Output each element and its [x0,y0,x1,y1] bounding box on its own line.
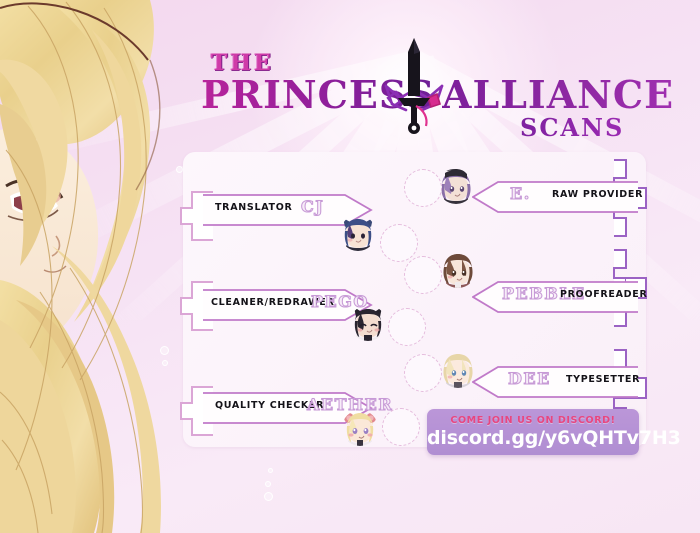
credit-name-label: CJ [301,197,324,216]
credit-role-label: TYPESETTER [566,374,640,385]
discord-invite-banner[interactable]: COME JOIN US ON DISCORD! discord.gg/y6vQ… [427,409,639,455]
bubble-decoration [265,481,271,487]
credit-row-cleaner-redrawer: CLEANER/REDRAWER PEGO [203,288,373,322]
logo-alliance-text: ALLIANCE [442,72,674,117]
credits-page: THE PRINCESS ALLIANCE SCANS [0,0,700,533]
site-logo: THE PRINCESS ALLIANCE SCANS [186,40,656,140]
sword-crown-icon [382,36,446,140]
credit-name-label: DEE [508,369,551,388]
credit-role-label: PROOFREADER [560,289,647,300]
bubble-decoration [160,346,169,355]
credit-row-raw-provider: E. RAW PROVIDER [472,180,638,214]
chibi-avatar-purple-hair [438,168,474,204]
discord-link[interactable]: discord.gg/y6vQHTv7H3 [427,427,639,449]
credit-name-label: AETHER [307,395,393,414]
avatar-placeholder [404,354,442,392]
chibi-avatar-brown-hair [440,252,476,288]
avatar-placeholder [380,224,418,262]
credit-role-label: TRANSLATOR [215,202,292,213]
avatar-placeholder [404,169,442,207]
discord-headline: COME JOIN US ON DISCORD! [427,415,639,426]
avatar-placeholder [388,308,426,346]
credit-row-typesetter: DEE TYPESETTER [472,365,638,399]
credit-role-label: RAW PROVIDER [552,189,643,200]
credit-name-label: E. [510,184,531,203]
bubble-decoration [176,166,183,173]
logo-scans-text: SCANS [520,113,624,142]
chibi-avatar-blue-cat [340,215,376,251]
chibi-avatar-blonde-hair [440,352,476,388]
bubble-decoration [264,492,273,501]
chibi-avatar-black-cat [350,305,386,341]
bubble-decoration [268,468,273,473]
bubble-decoration [162,360,168,366]
avatar-placeholder [382,408,420,446]
credit-row-proofreader: PEBBLE PROOFREADER [472,280,638,314]
chibi-avatar-blonde-bear [342,410,378,446]
avatar-placeholder [404,256,442,294]
character-artwork [0,0,196,533]
